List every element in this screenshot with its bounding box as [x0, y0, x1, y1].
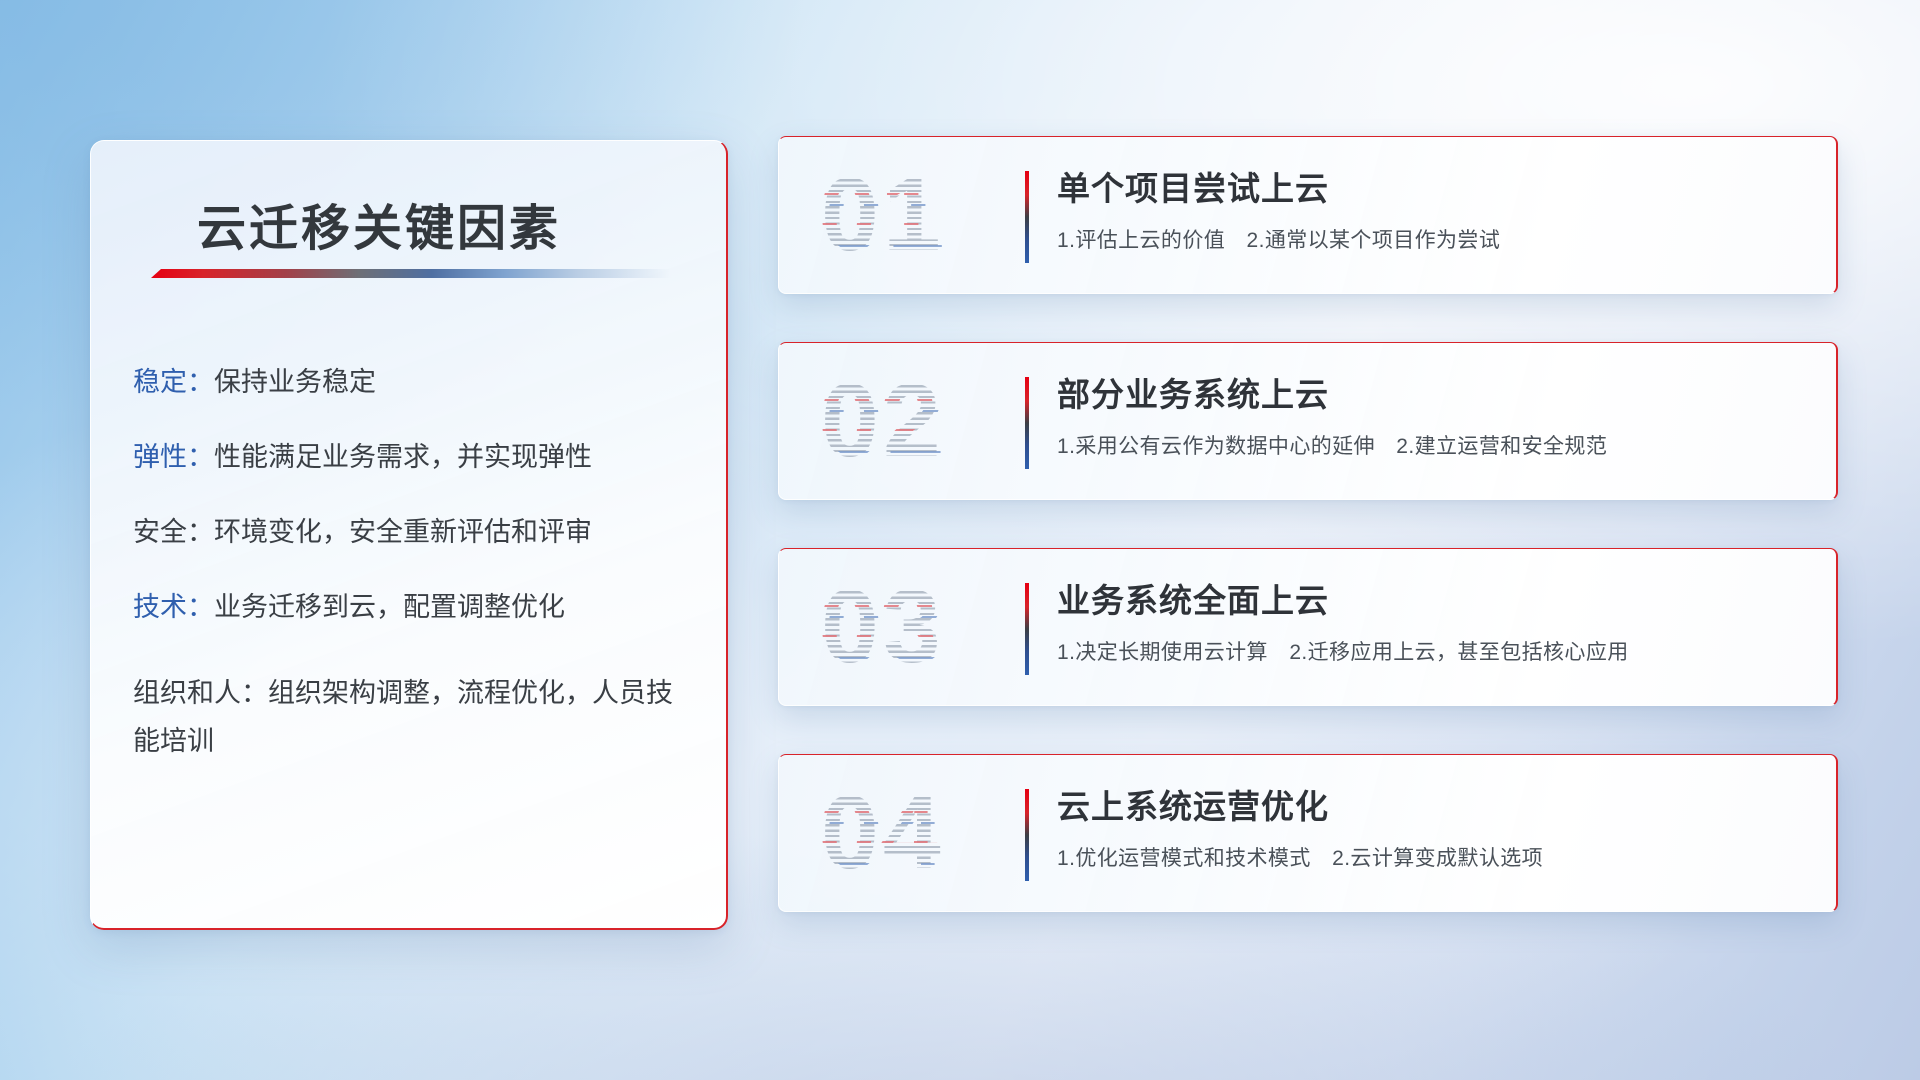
step-accent-bar: [1025, 789, 1029, 881]
list-item: 弹性：性能满足业务需求，并实现弹性: [133, 444, 696, 471]
step-accent-bar: [1025, 171, 1029, 263]
step-card-02[interactable]: 020202 部分业务系统上云 1.采用公有云作为数据中心的延伸 2.建立运营和…: [778, 342, 1838, 500]
list-item: 稳定：保持业务稳定: [133, 369, 696, 396]
list-item-key: 安全：: [133, 517, 214, 547]
title-underline-rule: [151, 269, 671, 278]
list-item-value: 保持业务稳定: [214, 367, 376, 397]
step-number-02: 020202: [821, 369, 945, 473]
slide-canvas: 云迁移关键因素 稳定：保持业务稳定 弹性：性能满足业务需求，并实现弹性 安全：环…: [0, 0, 1920, 1080]
list-item: 安全：环境变化，安全重新评估和评审: [133, 519, 696, 546]
list-item-value: 业务迁移到云，配置调整优化: [214, 592, 565, 622]
list-item-key: 技术：: [133, 592, 214, 622]
step-title: 单个项目尝试上云: [1057, 169, 1804, 209]
step-card-01[interactable]: 010101 单个项目尝试上云 1.评估上云的价值 2.通常以某个项目作为尝试: [778, 136, 1838, 294]
list-item-key: 弹性：: [133, 442, 214, 472]
step-accent-bar: [1025, 377, 1029, 469]
step-card-03[interactable]: 030303 业务系统全面上云 1.决定长期使用云计算 2.迁移应用上云，甚至包…: [778, 548, 1838, 706]
list-item-value: 性能满足业务需求，并实现弹性: [214, 442, 592, 472]
step-description: 1.优化运营模式和技术模式 2.云计算变成默认选项: [1057, 842, 1804, 872]
step-content: 单个项目尝试上云 1.评估上云的价值 2.通常以某个项目作为尝试: [1057, 169, 1804, 254]
step-number-01: 010101: [821, 163, 945, 267]
list-item-key: 稳定：: [133, 367, 214, 397]
key-factors-list: 稳定：保持业务稳定 弹性：性能满足业务需求，并实现弹性 安全：环境变化，安全重新…: [133, 369, 696, 813]
step-description: 1.决定长期使用云计算 2.迁移应用上云，甚至包括核心应用: [1057, 636, 1804, 666]
list-item-value: 环境变化，安全重新评估和评审: [214, 517, 592, 547]
list-item: 组织和人：组织架构调整，流程优化，人员技能培训: [133, 669, 696, 765]
step-content: 部分业务系统上云 1.采用公有云作为数据中心的延伸 2.建立运营和安全规范: [1057, 375, 1804, 460]
step-title: 云上系统运营优化: [1057, 787, 1804, 827]
step-number-04: 040404: [821, 781, 945, 885]
step-description: 1.评估上云的价值 2.通常以某个项目作为尝试: [1057, 224, 1804, 254]
list-item: 技术：业务迁移到云，配置调整优化: [133, 594, 696, 621]
step-content: 业务系统全面上云 1.决定长期使用云计算 2.迁移应用上云，甚至包括核心应用: [1057, 581, 1804, 666]
step-description: 1.采用公有云作为数据中心的延伸 2.建立运营和安全规范: [1057, 430, 1804, 460]
step-number-03: 030303: [821, 575, 945, 679]
list-item-key: 组织和人：: [133, 678, 268, 708]
key-factors-card: 云迁移关键因素 稳定：保持业务稳定 弹性：性能满足业务需求，并实现弹性 安全：环…: [90, 140, 728, 930]
migration-steps-list: 010101 单个项目尝试上云 1.评估上云的价值 2.通常以某个项目作为尝试 …: [778, 136, 1838, 912]
step-title: 部分业务系统上云: [1057, 375, 1804, 415]
page-title: 云迁移关键因素: [197, 189, 561, 260]
step-title: 业务系统全面上云: [1057, 581, 1804, 621]
step-accent-bar: [1025, 583, 1029, 675]
step-content: 云上系统运营优化 1.优化运营模式和技术模式 2.云计算变成默认选项: [1057, 787, 1804, 872]
step-card-04[interactable]: 040404 云上系统运营优化 1.优化运营模式和技术模式 2.云计算变成默认选…: [778, 754, 1838, 912]
